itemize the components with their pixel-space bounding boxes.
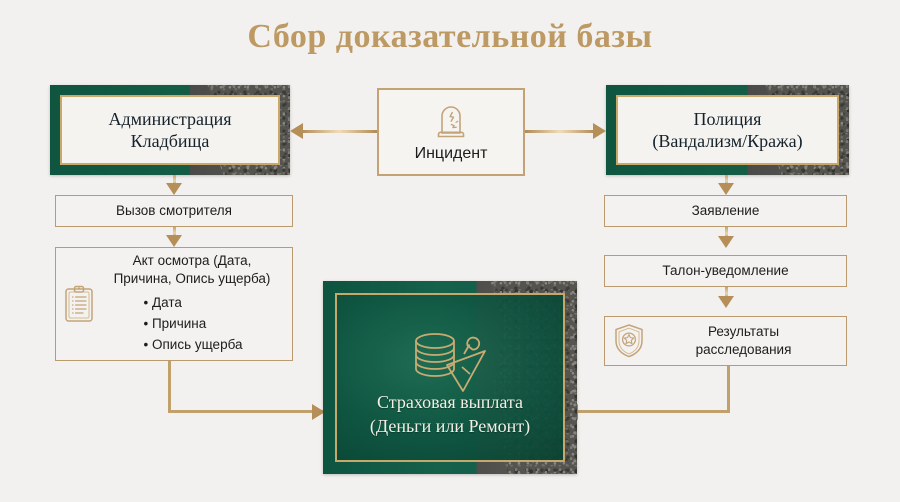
police-line1: Полиция <box>652 108 802 131</box>
investigation-results-line2: расследования <box>651 341 836 359</box>
arrow-police-to-statement <box>718 175 734 195</box>
cemetery-administration-line1: Администрация <box>108 108 231 131</box>
inspection-act-box[interactable]: Акт осмотра (Дата, Причина, Опись ущерба… <box>55 247 293 361</box>
list-item: Опись ущерба <box>141 335 242 356</box>
arrow-incident-to-police <box>525 123 606 139</box>
police-label: Полиция (Вандализм/Кража) <box>616 95 839 165</box>
arrow-call-to-act <box>166 227 182 247</box>
statement-box[interactable]: Заявление <box>604 195 847 227</box>
inspection-act-heading-line1: Акт осмотра (Дата, <box>100 252 284 270</box>
list-item: Дата <box>141 293 242 314</box>
connector-results-to-payout <box>577 366 730 413</box>
cemetery-administration-label: Администрация Кладбища <box>60 95 280 165</box>
notification-receipt-box[interactable]: Талон-уведомление <box>604 255 847 287</box>
insurance-payout-box[interactable]: Страховая выплата (Деньги или Ремонт) <box>323 281 577 474</box>
investigation-results-box[interactable]: Результаты расследования <box>604 316 847 366</box>
inspection-act-heading-line2: Причина, Опись ущерба) <box>100 270 284 288</box>
arrow-incident-to-administration <box>290 123 377 139</box>
police-line2: (Вандализм/Кража) <box>652 130 802 153</box>
clipboard-icon <box>62 284 96 324</box>
police-badge-icon <box>613 323 645 359</box>
statement-label: Заявление <box>692 202 760 220</box>
call-caretaker-box[interactable]: Вызов смотрителя <box>55 195 293 227</box>
connector-act-to-payout <box>168 361 323 413</box>
call-caretaker-label: Вызов смотрителя <box>116 202 232 220</box>
list-item: Причина <box>141 314 242 335</box>
diagram-canvas: Сбор доказательной базы Администрация Кл… <box>0 0 900 502</box>
investigation-results-line1: Результаты <box>651 323 836 341</box>
inspection-act-bullet-list: Дата Причина Опись ущерба <box>141 293 242 356</box>
arrow-statement-to-receipt <box>718 227 734 249</box>
insurance-payout-frame: Страховая выплата (Деньги или Ремонт) <box>335 293 565 462</box>
incident-box[interactable]: Инцидент <box>377 88 525 176</box>
insurance-payout-line2: (Деньги или Ремонт) <box>370 415 530 438</box>
arrow-administration-to-call <box>166 175 182 195</box>
cemetery-administration-box[interactable]: Администрация Кладбища <box>50 85 290 175</box>
cemetery-administration-line2: Кладбища <box>108 130 231 153</box>
investigation-results-label: Результаты расследования <box>651 323 846 359</box>
police-box[interactable]: Полиция (Вандализм/Кража) <box>606 85 849 175</box>
incident-label: Инцидент <box>415 143 488 165</box>
cracked-tombstone-icon <box>431 100 471 140</box>
notification-receipt-label: Талон-уведомление <box>662 262 788 280</box>
coins-and-trowel-icon <box>407 321 493 399</box>
arrow-receipt-to-results <box>718 287 734 309</box>
page-title: Сбор доказательной базы <box>0 18 900 56</box>
